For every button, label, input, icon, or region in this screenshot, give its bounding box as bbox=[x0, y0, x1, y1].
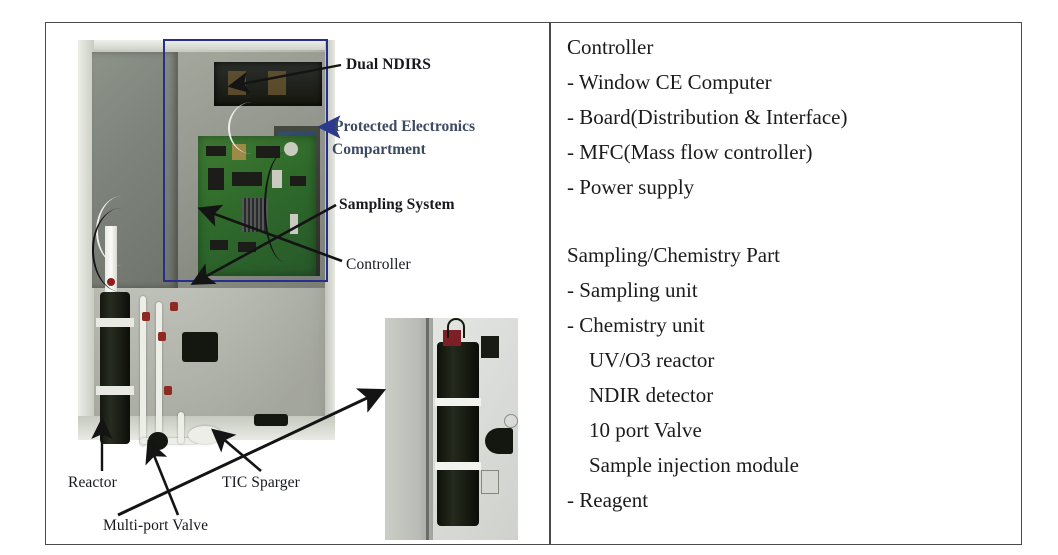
inset-band bbox=[435, 462, 481, 470]
inset-knob bbox=[504, 414, 518, 428]
spec-item: Sample injection module bbox=[567, 448, 1017, 483]
pcb-chip bbox=[232, 172, 262, 186]
tubing bbox=[188, 426, 222, 444]
spec-item: UV/O3 reactor bbox=[567, 343, 1017, 378]
spec-item: NDIR detector bbox=[567, 378, 1017, 413]
inset-upper-fitting bbox=[481, 336, 499, 358]
spec-item: - Window CE Computer bbox=[567, 65, 1017, 100]
specification-panel: Controller - Window CE Computer - Board(… bbox=[567, 30, 1017, 518]
tubing-fitting bbox=[164, 386, 172, 395]
reactor-band bbox=[96, 318, 134, 327]
inset-tubing-hook bbox=[447, 318, 465, 338]
inset-band bbox=[435, 398, 481, 406]
main-cabinet-photo bbox=[78, 40, 335, 440]
spec-heading-sampling-chemistry: Sampling/Chemistry Part bbox=[567, 238, 1017, 273]
spec-item: - Sampling unit bbox=[567, 273, 1017, 308]
photo-panel: Dual NDIRS Protected Electronics Compart… bbox=[46, 23, 548, 544]
callout-label-protected-electronics: Protected Electronics bbox=[334, 118, 475, 136]
wire bbox=[264, 152, 306, 262]
pcb-chip bbox=[210, 240, 228, 250]
callout-label-reactor: Reactor bbox=[68, 474, 117, 492]
callout-label-tic-sparger: TIC Sparger bbox=[222, 474, 300, 492]
tic-sparger-body bbox=[148, 432, 168, 450]
pcb-chip bbox=[238, 242, 256, 252]
inset-lower-fitting bbox=[481, 470, 499, 494]
spec-item: 10 port Valve bbox=[567, 413, 1017, 448]
tubing-fitting bbox=[158, 332, 166, 341]
tubing bbox=[178, 412, 184, 444]
reactor-closeup-inset-photo bbox=[385, 318, 518, 540]
cabinet-rim-right bbox=[325, 40, 335, 440]
spec-group-spacer bbox=[567, 205, 1017, 238]
spec-heading-controller: Controller bbox=[567, 30, 1017, 65]
callout-label-controller: Controller bbox=[346, 256, 411, 274]
spec-item: - Chemistry unit bbox=[567, 308, 1017, 343]
inset-wall bbox=[385, 318, 433, 540]
reactor-band bbox=[96, 386, 134, 395]
spec-item: - Board(Distribution & Interface) bbox=[567, 100, 1017, 135]
callout-label-dual-ndirs: Dual NDIRS bbox=[346, 56, 431, 74]
tubing-fitting bbox=[142, 312, 150, 321]
arrow-multi-port-valve bbox=[149, 443, 178, 515]
bottom-module bbox=[254, 414, 288, 426]
callout-label-sampling-system: Sampling System bbox=[339, 196, 455, 214]
wire bbox=[228, 102, 276, 154]
tubing bbox=[156, 302, 162, 442]
pcb-chip bbox=[208, 168, 224, 190]
callout-label-multi-port-valve: Multi-port Valve bbox=[103, 517, 208, 535]
pcb-chip bbox=[206, 146, 226, 156]
column-divider bbox=[549, 22, 551, 545]
spec-item: - Power supply bbox=[567, 170, 1017, 205]
multi-port-valve-body bbox=[182, 332, 218, 362]
callout-label-compartment: Compartment bbox=[332, 141, 426, 159]
dual-ndir-module bbox=[214, 62, 322, 106]
spec-group-sampling-chemistry: Sampling/Chemistry Part - Sampling unit … bbox=[567, 238, 1017, 518]
cabinet-rim-top bbox=[78, 40, 335, 50]
wire bbox=[92, 208, 150, 292]
tubing-fitting bbox=[170, 302, 178, 311]
spec-item: - Reagent bbox=[567, 483, 1017, 518]
uv-o3-reactor-tube bbox=[100, 292, 130, 444]
spec-item: - MFC(Mass flow controller) bbox=[567, 135, 1017, 170]
inset-reactor-cylinder bbox=[437, 342, 479, 526]
inset-valve bbox=[485, 428, 513, 454]
spec-group-controller: Controller - Window CE Computer - Board(… bbox=[567, 30, 1017, 205]
